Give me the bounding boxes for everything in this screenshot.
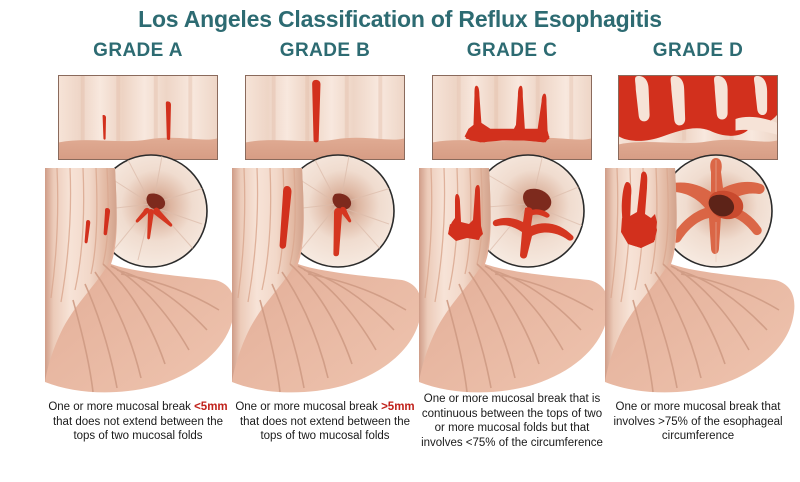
caption-grade-b: One or more mucosal break >5mm that does… — [232, 400, 418, 444]
esophagus-anatomy-grade-b — [224, 168, 424, 396]
page-title: Los Angeles Classification of Reflux Eso… — [0, 6, 800, 33]
caption-text-c: One or more mucosal break that is contin… — [421, 393, 603, 449]
esophagus-anatomy-grade-c — [411, 168, 611, 396]
grade-column-b: GRADE B — [232, 40, 418, 64]
caption-highlight-b: >5mm — [381, 401, 415, 413]
flat-mucosa-panel-grade-a — [58, 75, 218, 160]
grade-column-d: GRADE D — [605, 40, 791, 64]
caption-text-b-pre: One or more mucosal break — [235, 401, 381, 413]
caption-text-d: One or more mucosal break that involves … — [613, 401, 782, 442]
esophagus-anatomy-grade-d — [597, 168, 797, 396]
grade-label-b: GRADE B — [232, 40, 418, 64]
caption-text-a-post: that does not extend between the tops of… — [53, 416, 223, 443]
grade-column-c: GRADE C — [419, 40, 605, 64]
grade-label-c: GRADE C — [419, 40, 605, 64]
flat-mucosa-panel-grade-d — [618, 75, 778, 160]
caption-text-a-pre: One or more mucosal break — [48, 401, 194, 413]
caption-grade-a: One or more mucosal break <5mm that does… — [45, 400, 231, 444]
grade-label-d: GRADE D — [605, 40, 791, 64]
esophagus-anatomy-grade-a — [37, 168, 237, 396]
caption-grade-d: One or more mucosal break that involves … — [605, 400, 791, 444]
caption-highlight-a: <5mm — [194, 401, 228, 413]
caption-grade-c: One or more mucosal break that is contin… — [419, 392, 605, 450]
grade-column-a: GRADE A — [45, 40, 231, 64]
grade-label-a: GRADE A — [45, 40, 231, 64]
caption-text-b-post: that does not extend between the tops of… — [240, 416, 410, 443]
flat-mucosa-panel-grade-c — [432, 75, 592, 160]
flat-mucosa-panel-grade-b — [245, 75, 405, 160]
